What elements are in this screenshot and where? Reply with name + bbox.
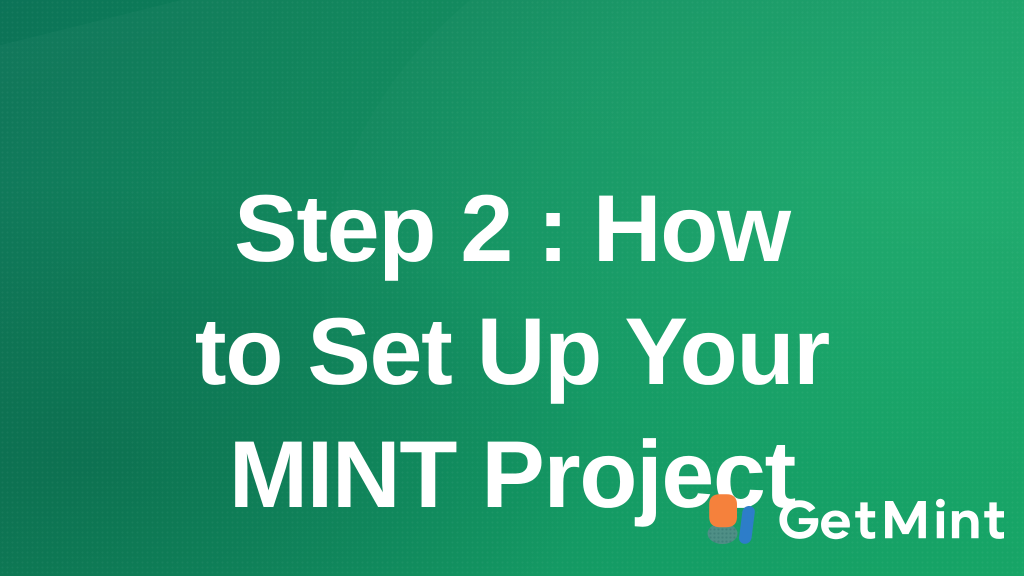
getmint-wordmark <box>776 496 1004 542</box>
blue-rounded-pill <box>739 506 755 544</box>
slide-headline: Step 2 : How to Set Up Your MINT Project <box>0 168 1024 537</box>
orange-rounded-square <box>709 494 737 527</box>
wordmark-letter-g <box>779 500 818 539</box>
headline-line-1: Step 2 : How <box>0 168 1024 291</box>
wordmark-letter-n <box>952 510 979 538</box>
wordmark-letter-e <box>821 510 850 539</box>
getmint-logo <box>705 492 1004 546</box>
headline-line-2: to Set Up Your <box>0 291 1024 414</box>
wordmark-letter-i-stem <box>936 511 943 538</box>
title-slide: Step 2 : How to Set Up Your MINT Project <box>0 0 1024 576</box>
getmint-logo-mark <box>705 492 759 546</box>
wordmark-letter-i-dot <box>936 499 945 508</box>
wordmark-letter-m <box>885 501 926 538</box>
wordmark-letter-t-2 <box>984 502 1004 539</box>
wordmark-letter-t <box>855 502 875 539</box>
